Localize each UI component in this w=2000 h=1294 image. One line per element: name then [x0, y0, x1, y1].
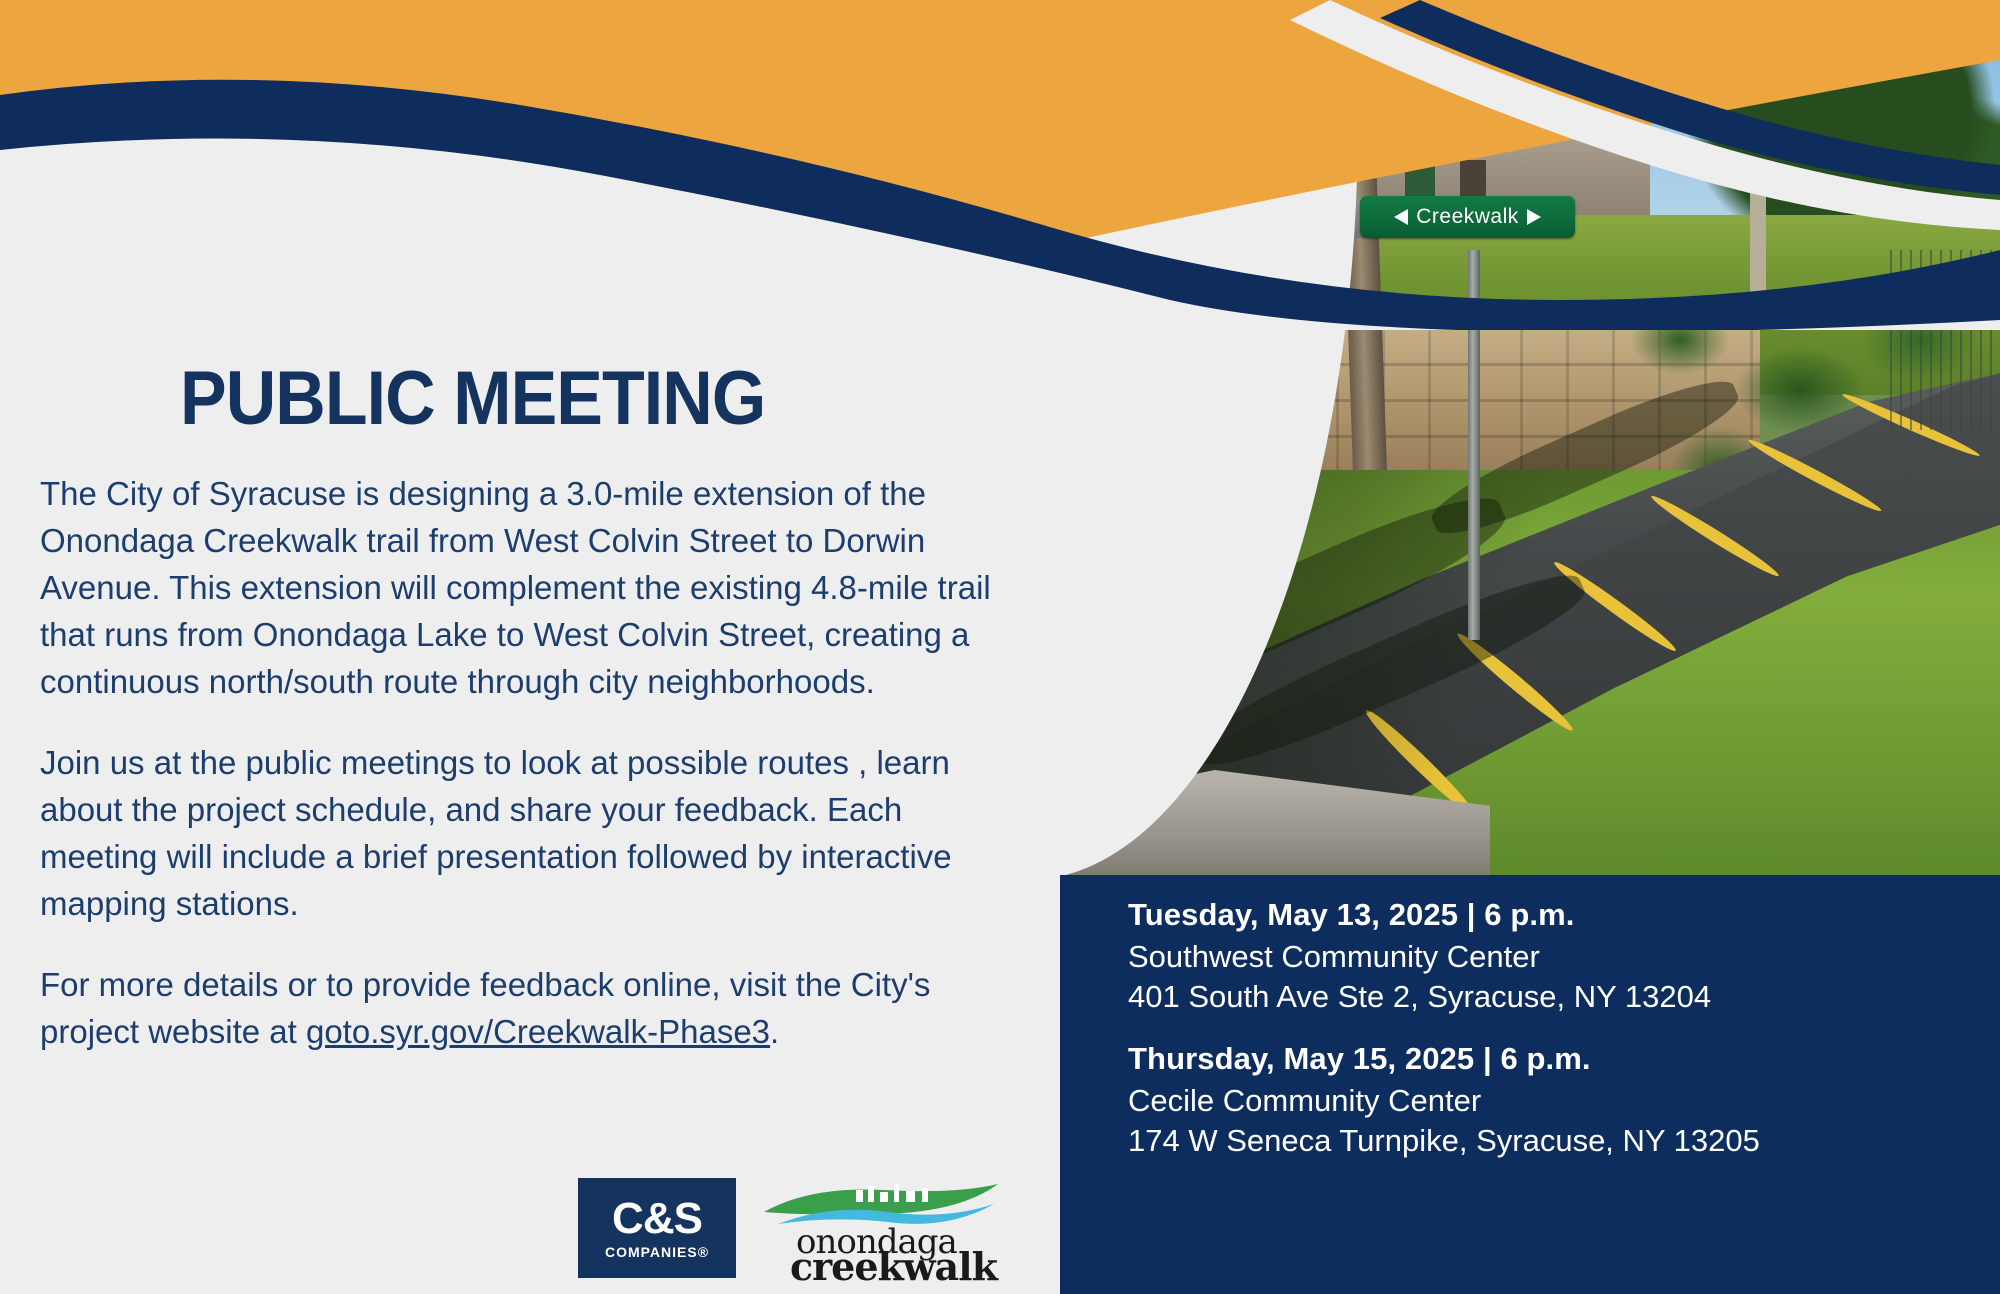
sentence-period: . [770, 1013, 779, 1050]
flyer-canvas: Creekwalk 06.5E Tuesday, May 13, 2025 | … [0, 0, 2000, 1294]
cs-logo-mark: C&S [612, 1197, 702, 1241]
meeting-address: 401 South Ave Ste 2, Syracuse, NY 13204 [1128, 979, 1980, 1015]
meeting-datetime: Thursday, May 15, 2025 | 6 p.m. [1128, 1041, 1980, 1077]
meeting-venue: Cecile Community Center [1128, 1083, 1980, 1119]
cs-logo-wordmark: COMPANIES® [605, 1244, 709, 1260]
onondaga-creekwalk-logo: onondaga creekwalk [760, 1178, 1008, 1278]
paragraph-project-description: The City of Syracuse is designing a 3.0-… [40, 470, 1010, 705]
cs-companies-logo: C&S COMPANIES® [578, 1178, 736, 1278]
meeting-list: Tuesday, May 13, 2025 | 6 p.m. Southwest… [1128, 897, 1980, 1185]
paragraph-more-details: For more details or to provide feedback … [40, 961, 1010, 1055]
meeting-entry: Tuesday, May 13, 2025 | 6 p.m. Southwest… [1128, 897, 1980, 1015]
decorative-wave-header [0, 0, 2000, 330]
meeting-details-panel: Tuesday, May 13, 2025 | 6 p.m. Southwest… [1060, 875, 2000, 1294]
project-website-link[interactable]: goto.syr.gov/Creekwalk-Phase3 [306, 1013, 770, 1050]
meeting-entry: Thursday, May 15, 2025 | 6 p.m. Cecile C… [1128, 1041, 1980, 1159]
body-copy: The City of Syracuse is designing a 3.0-… [40, 470, 1010, 1089]
meeting-venue: Southwest Community Center [1128, 939, 1980, 975]
meeting-datetime: Tuesday, May 13, 2025 | 6 p.m. [1128, 897, 1980, 933]
page-title: PUBLIC MEETING [180, 355, 765, 442]
paragraph-meeting-invite: Join us at the public meetings to look a… [40, 739, 1010, 927]
partner-logos: C&S COMPANIES® onondaga creekwalk [578, 1178, 1008, 1278]
creekwalk-word-creekwalk: creekwalk [790, 1244, 997, 1289]
meeting-address: 174 W Seneca Turnpike, Syracuse, NY 1320… [1128, 1123, 1980, 1159]
